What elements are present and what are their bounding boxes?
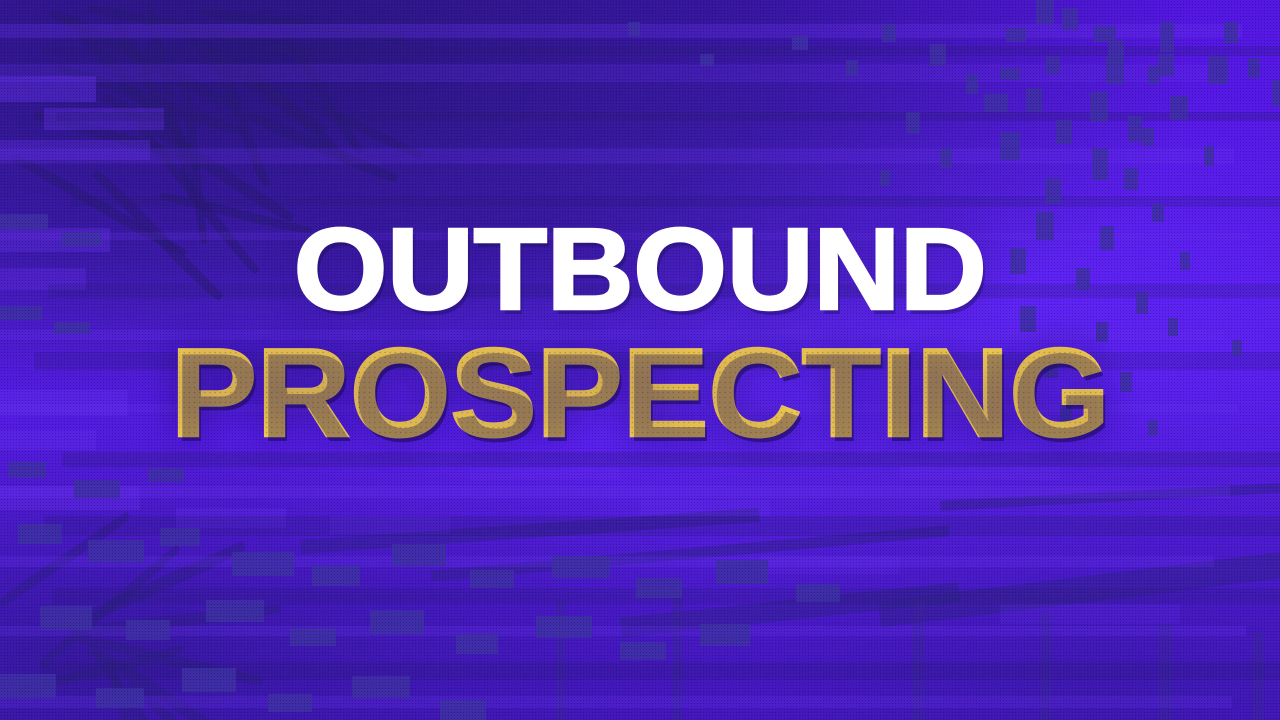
glitch-block: [182, 668, 236, 692]
glitch-slice: [0, 24, 1242, 38]
glitch-block: [18, 524, 62, 544]
glitch-block: [470, 570, 514, 588]
glitch-block: [370, 610, 424, 634]
glitch-block: [716, 560, 768, 584]
glitch-block: [1106, 56, 1124, 84]
glitch-block: [1092, 148, 1108, 180]
glitch-block: [0, 486, 140, 510]
glitch-block: [1204, 146, 1214, 166]
glitch-block: [1000, 132, 1020, 160]
glitch-block: [176, 508, 286, 528]
glitch-block: [1108, 40, 1124, 66]
glitch-block: [1006, 28, 1026, 42]
railing-beam: [878, 551, 1280, 628]
glitch-block: [1036, 0, 1054, 24]
title-line-outbound: OUTBOUND: [0, 216, 1280, 323]
railing-beam: [300, 508, 760, 554]
glitch-block: [206, 600, 264, 622]
frond-blade: [62, 12, 195, 158]
railing-post: [556, 600, 566, 720]
frond-blade: [49, 5, 241, 115]
glitch-block: [536, 616, 592, 638]
glitch-block: [1090, 92, 1108, 122]
glitch-block: [1062, 8, 1078, 30]
glitch-slice: [0, 556, 1214, 567]
glitch-slice: [40, 662, 1280, 680]
glitch-block: [1128, 116, 1142, 142]
glitch-block: [1272, 80, 1280, 106]
glitch-block: [290, 628, 336, 646]
frond-blade: [146, 4, 196, 202]
railing-post: [1158, 624, 1172, 720]
glitch-block: [1000, 604, 1180, 624]
frond-blade: [105, 660, 160, 720]
frond-blade: [113, 19, 202, 173]
glitch-block: [636, 578, 682, 598]
frond-blade: [248, 110, 399, 185]
glitch-block: [700, 54, 714, 66]
frond-blade: [282, 32, 365, 156]
frond-blade: [127, 677, 242, 720]
glitch-slice: [0, 486, 1230, 498]
glitch-block: [40, 606, 92, 630]
railing-beam: [431, 525, 950, 581]
frond-blade: [178, 25, 327, 138]
glitch-block: [148, 468, 184, 482]
glitch-block: [1045, 178, 1061, 204]
glitch-block: [1160, 22, 1174, 52]
glitch-block: [1094, 26, 1116, 42]
frond-blade: [63, 541, 247, 633]
glitch-slice: [0, 696, 1232, 708]
frond-blade: [79, 632, 264, 688]
glitch-slice: [52, 588, 1280, 604]
glitch-block: [1158, 54, 1174, 76]
glitch-block: [0, 140, 150, 160]
glitch-block: [312, 566, 360, 586]
glitch-block: [8, 462, 46, 478]
glitch-block: [1000, 68, 1020, 80]
glitch-block: [268, 694, 312, 712]
frond-blade: [87, 2, 314, 60]
frond-blade: [241, 59, 353, 168]
glitch-block: [900, 466, 1060, 480]
glitch-block: [940, 148, 952, 168]
title-card: OUTBOUND PROSPECTING: [0, 0, 1280, 720]
glitch-block: [1124, 168, 1138, 190]
frond-blade: [87, 641, 260, 720]
glitch-block: [1248, 58, 1260, 78]
glitch-block: [44, 108, 164, 130]
glitch-block: [1148, 66, 1160, 84]
glitch-block: [1142, 128, 1154, 146]
frond-blade: [17, 645, 184, 696]
frond-blade: [101, 89, 295, 225]
glitch-slice: [44, 516, 1280, 536]
glitch-block: [1026, 88, 1042, 112]
railing-post: [912, 600, 925, 720]
glitch-block: [906, 112, 920, 134]
glitch-block: [620, 642, 666, 660]
railing-post: [672, 588, 683, 720]
glitch-block: [88, 540, 144, 562]
railing-post: [1040, 612, 1052, 720]
glitch-block: [1046, 56, 1060, 74]
glitch-block: [440, 700, 486, 720]
glitch-block: [1224, 22, 1238, 44]
frond-blade: [91, 648, 196, 720]
glitch-block: [392, 544, 446, 566]
frond-blade: [32, 108, 200, 166]
glitch-block: [232, 552, 294, 576]
title-line-prospecting: PROSPECTING: [0, 335, 1280, 451]
glitch-block: [930, 44, 946, 66]
glitch-block: [792, 36, 808, 50]
glitch-block: [760, 556, 900, 574]
glitch-block: [1170, 96, 1188, 120]
frond-blade: [199, 6, 404, 45]
glitch-block: [0, 674, 56, 698]
glitch-slice: [0, 64, 1216, 82]
glitch-block: [966, 74, 978, 94]
glitch-block: [984, 94, 1008, 112]
frond-blade: [209, 44, 271, 189]
glitch-slice: [0, 148, 1234, 164]
glitch-block: [846, 60, 858, 76]
glitch-slice: [40, 46, 1280, 56]
glitch-slice: [56, 112, 1280, 121]
glitch-block: [352, 676, 410, 698]
glitch-block: [640, 500, 770, 516]
frond-blade: [304, 96, 423, 160]
glitch-block: [470, 468, 620, 480]
glitch-block: [700, 624, 750, 646]
frond-blade: [0, 512, 132, 608]
glitch-block: [1208, 56, 1228, 84]
railing-beam: [940, 483, 1280, 511]
railing-beam: [620, 582, 960, 637]
glitch-block: [96, 688, 144, 708]
glitch-block: [160, 528, 200, 546]
glitch-block: [126, 620, 170, 640]
glitch-block: [330, 516, 450, 534]
glitch-slice: [0, 626, 1246, 636]
glitch-block: [796, 584, 840, 602]
glitch-block: [880, 170, 890, 186]
glitch-block: [882, 24, 896, 42]
frond-blade: [37, 544, 183, 669]
glitch-block: [74, 480, 120, 498]
glitch-block: [628, 22, 640, 36]
glitch-block: [552, 556, 610, 578]
glitch-block: [456, 634, 498, 654]
title-block: OUTBOUND PROSPECTING: [0, 216, 1280, 451]
glitch-block: [1056, 120, 1072, 144]
railing-post: [1252, 632, 1264, 720]
frond-blade: [71, 604, 281, 638]
frond-blade: [58, 62, 247, 139]
glitch-block: [0, 76, 96, 102]
